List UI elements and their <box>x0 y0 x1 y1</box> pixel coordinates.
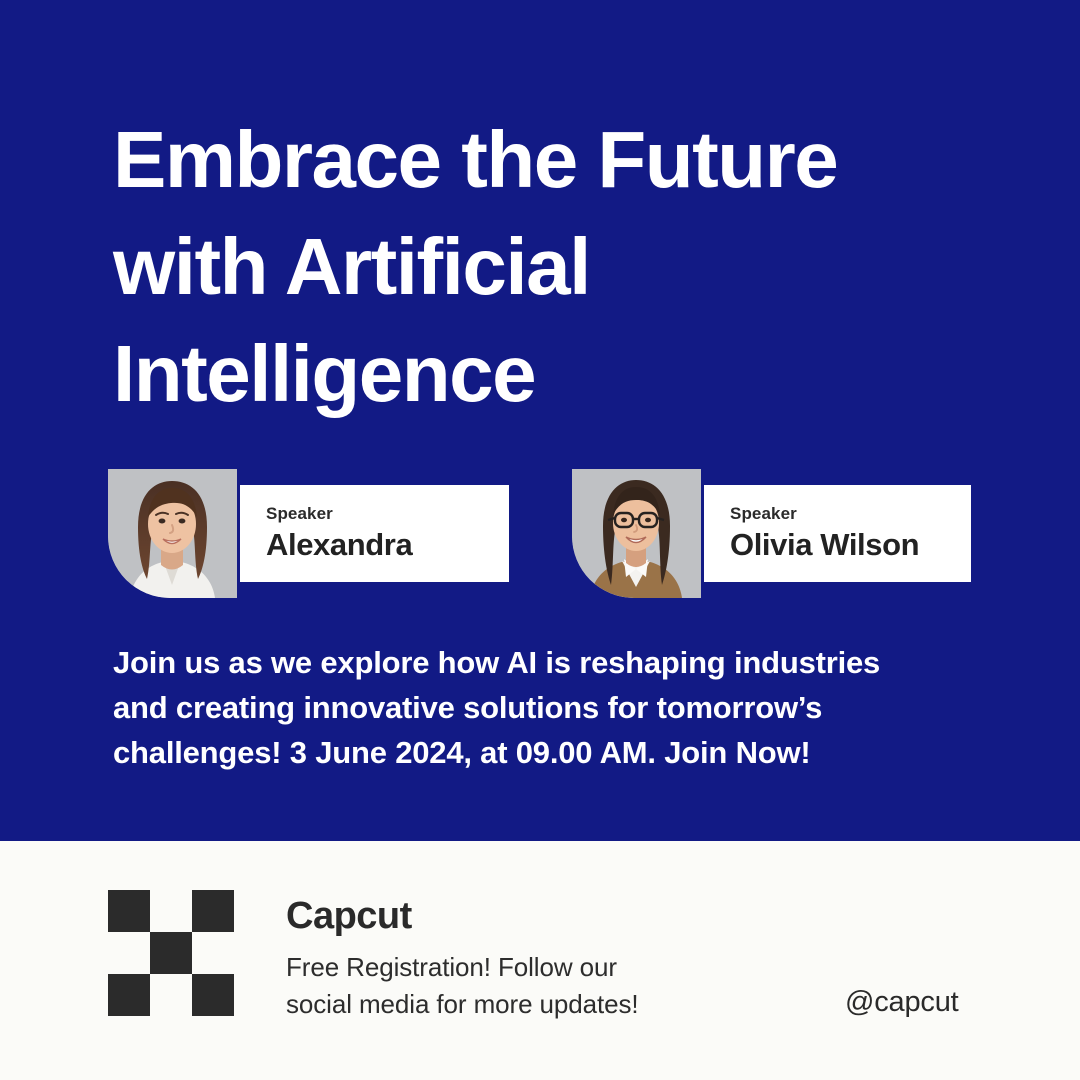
speaker-avatar <box>572 469 701 598</box>
speaker-name-plate: Speaker Alexandra <box>240 485 509 582</box>
brand-name: Capcut <box>286 893 746 939</box>
tagline-line-2: social media for more updates! <box>286 986 746 1023</box>
description-line-1: Join us as we explore how AI is reshapin… <box>113 640 993 685</box>
speaker-role-label: Speaker <box>730 504 971 524</box>
social-handle[interactable]: @capcut <box>845 985 958 1019</box>
speaker-list: Speaker Alexandra <box>108 469 972 598</box>
speaker-name: Alexandra <box>266 526 509 564</box>
brand-tagline: Free Registration! Follow our social med… <box>286 949 746 1023</box>
description-line-3: challenges! 3 June 2024, at 09.00 AM. Jo… <box>113 730 993 775</box>
event-poster: Embrace the Future with Artificial Intel… <box>0 0 1080 1080</box>
hero-section: Embrace the Future with Artificial Intel… <box>0 0 1080 841</box>
event-description: Join us as we explore how AI is reshapin… <box>113 640 993 775</box>
speaker-role-label: Speaker <box>266 504 509 524</box>
speaker-name-plate: Speaker Olivia Wilson <box>704 485 971 582</box>
headline-line-1: Embrace the Future <box>113 106 1013 213</box>
speaker-avatar <box>108 469 237 598</box>
speaker-card-olivia-wilson[interactable]: Speaker Olivia Wilson <box>572 469 971 598</box>
headline-line-3: Intelligence <box>113 320 1013 427</box>
tagline-line-1: Free Registration! Follow our <box>286 949 746 986</box>
speaker-card-alexandra[interactable]: Speaker Alexandra <box>108 469 509 598</box>
description-line-2: and creating innovative solutions for to… <box>113 685 993 730</box>
checkerboard-logo-icon <box>108 890 234 1016</box>
headline-line-2: with Artificial <box>113 213 1013 320</box>
speaker-name: Olivia Wilson <box>730 526 971 564</box>
brand-block: Capcut Free Registration! Follow our soc… <box>286 893 746 1023</box>
page-title: Embrace the Future with Artificial Intel… <box>113 106 1013 427</box>
